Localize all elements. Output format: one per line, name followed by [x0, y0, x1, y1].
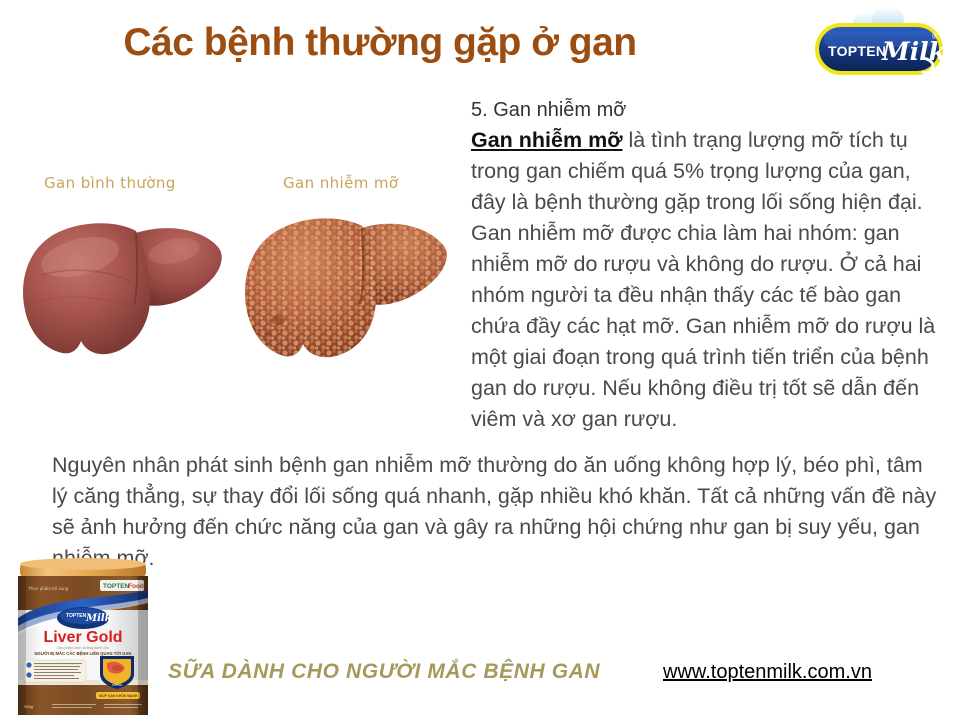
liver-gold-can: TOPTEN Food Thực phẩm bổ sung TOPTEN Mil… [8, 556, 158, 720]
svg-text:GIÚP GAN KHỎE MẠNH: GIÚP GAN KHỎE MẠNH [99, 693, 138, 698]
fatty-liver-label: Gan nhiễm mỡ [283, 174, 398, 192]
lead-body: là tình trạng lượng mỡ tích tụ trong gan… [471, 128, 935, 431]
content-column: 5. Gan nhiễm mỡ Gan nhiễm mỡ là tình trạ… [471, 96, 941, 435]
svg-text:TOPTEN: TOPTEN [66, 613, 87, 619]
logo-registered-mark: ® [932, 32, 938, 41]
section-heading: 5. Gan nhiễm mỡ [471, 96, 941, 124]
page-title: Các bệnh thường gặp ở gan [0, 22, 760, 65]
slide-canvas: Các bệnh thường gặp ở gan [0, 0, 960, 720]
topten-milk-logo[interactable]: TOPTEN Milk ® [812, 6, 952, 86]
svg-text:Thực phẩm bổ sung: Thực phẩm bổ sung [28, 585, 69, 591]
svg-text:TOPTEN: TOPTEN [112, 683, 123, 687]
svg-text:TOPTEN: TOPTEN [103, 583, 130, 590]
can-subtitle: Sản phẩm dinh dưỡng dành cho [57, 646, 109, 650]
svg-text:Milk: Milk [85, 613, 112, 624]
logo-milk-text: Milk [881, 37, 946, 66]
bottom-paragraph: Nguyên nhân phát sinh bệnh gan nhiễm mỡ … [52, 450, 942, 574]
can-subtitle2: NGƯỜI BỊ MẮC CÁC BỆNH LIÊN QUAN TỚI GAN [35, 651, 132, 656]
normal-liver-label: Gan bình thường [44, 174, 176, 192]
footer-tagline: SỮA DÀNH CHO NGƯỜI MẮC BỆNH GAN [168, 660, 600, 684]
can-corner-brand: TOPTEN Food [100, 580, 144, 591]
footer-url[interactable]: www.toptenmilk.com.vn [663, 661, 872, 684]
logo-topten-text: TOPTEN [828, 43, 886, 59]
can-product-name: Liver Gold [43, 629, 122, 646]
fatty-liver-image [238, 200, 453, 395]
normal-liver-image [18, 205, 228, 390]
lead-term: Gan nhiễm mỡ [471, 128, 622, 152]
